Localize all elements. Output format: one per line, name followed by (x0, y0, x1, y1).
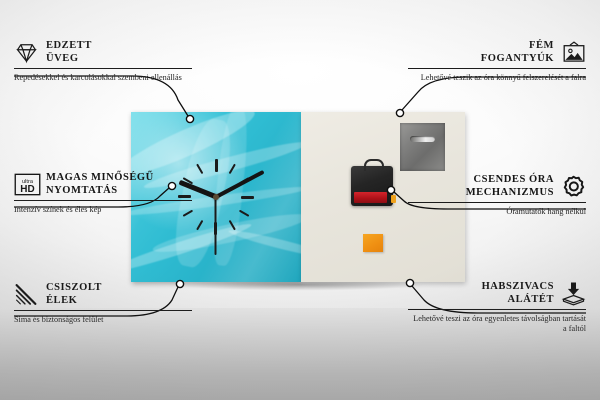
callout-title: CSENDES ÓRA MECHANIZMUS (466, 174, 554, 199)
diamond-icon (14, 40, 39, 65)
callout-description: Óramutatók hang nélkül (408, 207, 586, 218)
callout-title: FÉM FOGANTYÚK (481, 40, 554, 65)
callout-rule (408, 309, 586, 310)
callout-title: MAGAS MINŐSÉGŰ NYOMTATÁS (46, 172, 154, 197)
foam-pad-icon (561, 281, 586, 306)
battery (354, 192, 387, 203)
callout-description: Repedésekkel és karcolásokkal szembeni e… (14, 73, 192, 84)
callout-title: CSISZOLT ÉLEK (46, 282, 102, 307)
callout-header: CSENDES ÓRA MECHANIZMUS (408, 174, 586, 199)
metal-hanger (400, 123, 445, 171)
callout-magas-minosegu-nyomtatas[interactable]: ultra HD MAGAS MINŐSÉGŰ NYOMTATÁS Intenz… (14, 172, 192, 215)
picture-hanger-icon (561, 40, 586, 65)
mechanism-loop (364, 159, 384, 171)
ultra-hd-icon: ultra HD (14, 172, 39, 197)
clock-center-pin (213, 194, 219, 200)
callout-header: CSISZOLT ÉLEK (14, 282, 192, 307)
callout-title: HABSZIVACS ALÁTÉT (482, 281, 554, 306)
callout-header: HABSZIVACS ALÁTÉT (408, 281, 586, 306)
callout-csiszolt-elek[interactable]: CSISZOLT ÉLEK Sima és biztonságos felüle… (14, 282, 192, 325)
infographic-stage: EDZETT ÜVEG Repedésekkel és karcolásokka… (0, 0, 600, 400)
callout-rule (14, 310, 192, 311)
callout-header: FÉM FOGANTYÚK (408, 40, 586, 65)
callout-title: EDZETT ÜVEG (46, 40, 92, 65)
callout-description: Lehetővé teszi az óra egyenletes távolsá… (408, 314, 586, 335)
clock-mechanism (351, 166, 393, 206)
callout-csendes-ora-mechanizmus[interactable]: CSENDES ÓRA MECHANIZMUS Óramutatók hang … (408, 174, 586, 217)
callout-description: Intenzív színek és éles kép (14, 205, 192, 216)
callout-description: Lehetővé teszik az óra könnyű felszerelé… (408, 73, 586, 84)
callout-fem-fogantyuk[interactable]: FÉM FOGANTYÚK Lehetővé teszik az óra kön… (408, 40, 586, 83)
callout-header: EDZETT ÜVEG (14, 40, 192, 65)
battery-tip (391, 195, 396, 203)
callout-rule (14, 200, 192, 201)
callout-habszivacs-alatet[interactable]: HABSZIVACS ALÁTÉT Lehetővé teszi az óra … (408, 281, 586, 335)
callout-description: Sima és biztonságos felület (14, 315, 192, 326)
hanger-slot (410, 136, 435, 142)
polished-edges-icon (14, 282, 39, 307)
callout-rule (408, 202, 586, 203)
gear-icon (561, 174, 586, 199)
callout-edzett-uveg[interactable]: EDZETT ÜVEG Repedésekkel és karcolásokka… (14, 40, 192, 83)
svg-text:HD: HD (20, 184, 34, 195)
foam-pad (363, 234, 383, 252)
callout-rule (14, 68, 192, 69)
callout-rule (408, 68, 586, 69)
callout-header: ultra HD MAGAS MINŐSÉGŰ NYOMTATÁS (14, 172, 192, 197)
